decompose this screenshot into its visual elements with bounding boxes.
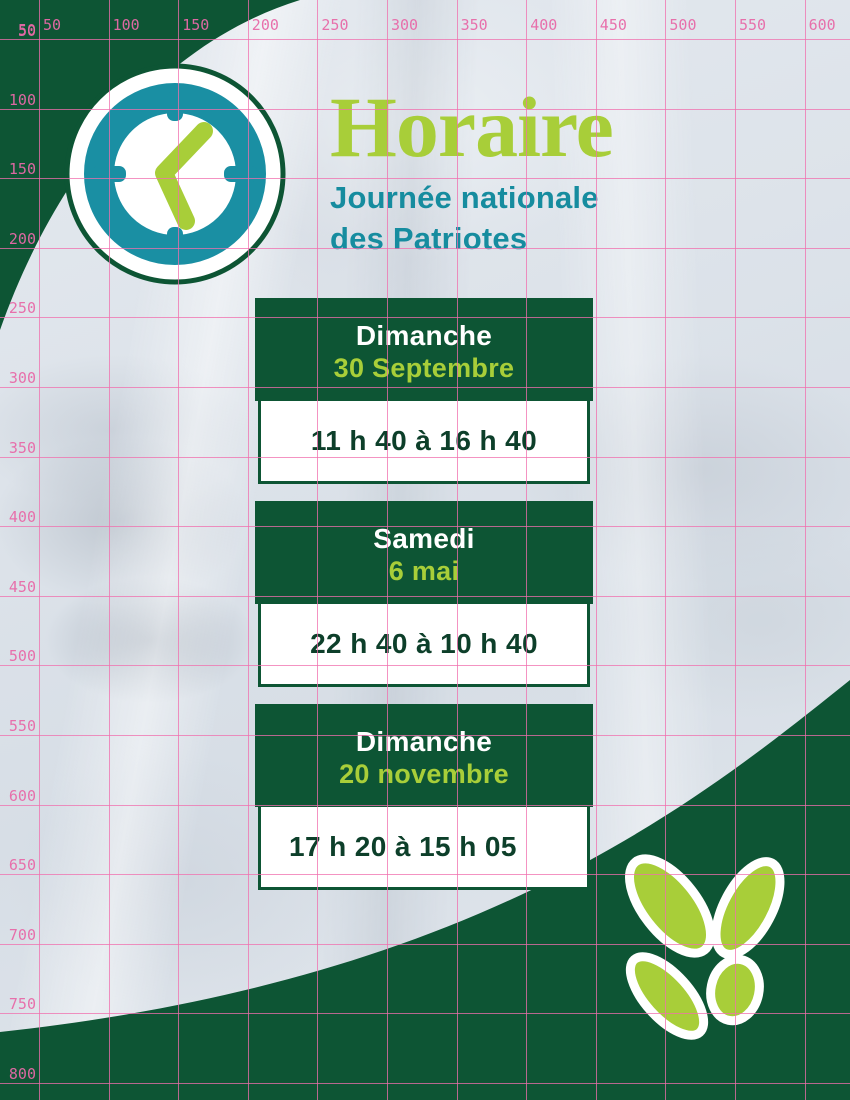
schedule-card-time: 17 h 20 à 15 h 05 [289,833,517,861]
schedule-card-time-box: 11 h 40 à 16 h 40 [258,401,590,484]
schedule-card-day: Dimanche [263,320,585,352]
schedule-card-date: 6 mai [263,555,585,587]
schedule-card-header: Dimanche 30 Septembre [255,298,593,401]
schedule-card-time: 22 h 40 à 10 h 40 [310,630,538,658]
page-title: Horaire [330,88,810,167]
schedule-card: Dimanche 20 novembre 17 h 20 à 15 h 05 [255,704,593,890]
schedule-card-header: Samedi 6 mai [255,501,593,604]
schedule-card-time: 11 h 40 à 16 h 40 [311,427,537,455]
schedule-card-day: Samedi [263,523,585,555]
schedule-card: Dimanche 30 Septembre 11 h 40 à 16 h 40 [255,298,593,484]
schedule-card-date: 20 novembre [263,758,585,790]
schedule-list: Dimanche 30 Septembre 11 h 40 à 16 h 40 … [255,298,593,907]
title-block: Horaire Journée nationale des Patriotes [330,88,810,260]
butterfly-flower-icon [617,848,807,1058]
schedule-card-date: 30 Septembre [263,352,585,384]
page-subtitle: Journée nationale des Patriotes [330,177,810,259]
poster-canvas: Horaire Journée nationale des Patriotes … [0,0,850,1100]
green-strip-bottom [0,1078,850,1100]
subtitle-line-1: Journée nationale [330,177,810,218]
schedule-card-day: Dimanche [263,726,585,758]
schedule-card: Samedi 6 mai 22 h 40 à 10 h 40 [255,501,593,687]
clock-icon [64,63,286,285]
schedule-card-time-box: 17 h 20 à 15 h 05 [258,807,590,890]
schedule-card-header: Dimanche 20 novembre [255,704,593,807]
subtitle-line-2: des Patriotes [330,218,810,259]
schedule-card-time-box: 22 h 40 à 10 h 40 [258,604,590,687]
